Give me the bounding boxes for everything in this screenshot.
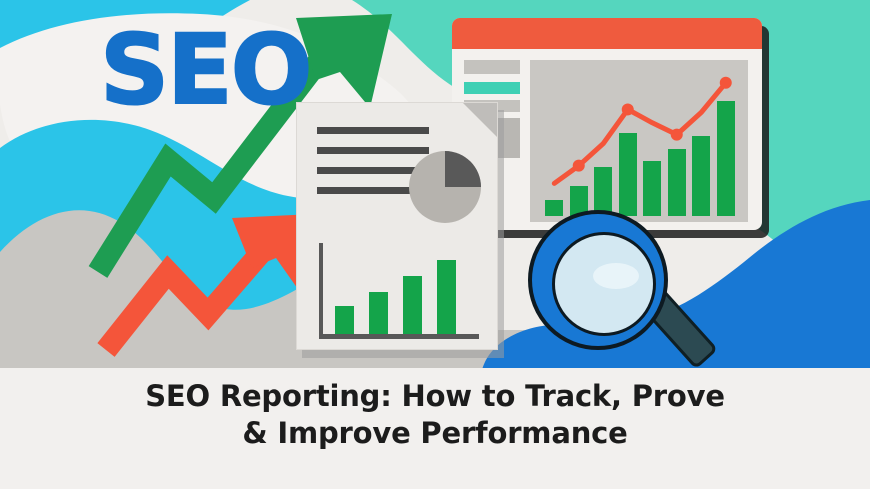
seo-reporting-hero-graphic: SEO	[0, 0, 870, 489]
sidebar-block-teal	[464, 82, 520, 94]
dashboard-line-marker	[671, 129, 683, 141]
chart-line-series	[530, 60, 748, 222]
document-text-line	[317, 147, 429, 154]
document-bar	[403, 276, 422, 334]
magnifier-glint	[593, 263, 639, 289]
caption-line-1: SEO Reporting: How to Track, Prove	[0, 378, 870, 415]
document-pie-chart	[409, 151, 481, 223]
bar-chart-y-axis	[319, 243, 323, 335]
document-text-line	[317, 127, 429, 134]
bar-chart-x-axis	[319, 334, 479, 339]
document-paper	[296, 102, 498, 350]
seo-report-document[interactable]	[296, 102, 498, 350]
magnifier-lens	[552, 232, 656, 336]
pie-wedge-highlight	[445, 151, 481, 187]
document-bar-chart	[319, 243, 479, 339]
magnifying-glass[interactable]	[524, 208, 724, 398]
dashboard-line-marker	[573, 160, 585, 172]
document-folded-corner	[463, 103, 497, 137]
document-bar	[437, 260, 456, 334]
document-bar	[369, 292, 388, 334]
dashboard-line-marker	[622, 103, 634, 115]
magnifier-ring	[528, 210, 668, 350]
document-bar	[335, 306, 354, 334]
hero-caption: SEO Reporting: How to Track, Prove & Imp…	[0, 378, 870, 452]
dashboard-chart-plot	[530, 60, 748, 222]
window-titlebar[interactable]	[452, 18, 762, 49]
sidebar-block-gray-1	[464, 60, 520, 74]
caption-line-2: & Improve Performance	[0, 415, 870, 452]
seo-wordmark: SEO	[100, 22, 310, 118]
dashboard-line-marker	[720, 77, 732, 89]
